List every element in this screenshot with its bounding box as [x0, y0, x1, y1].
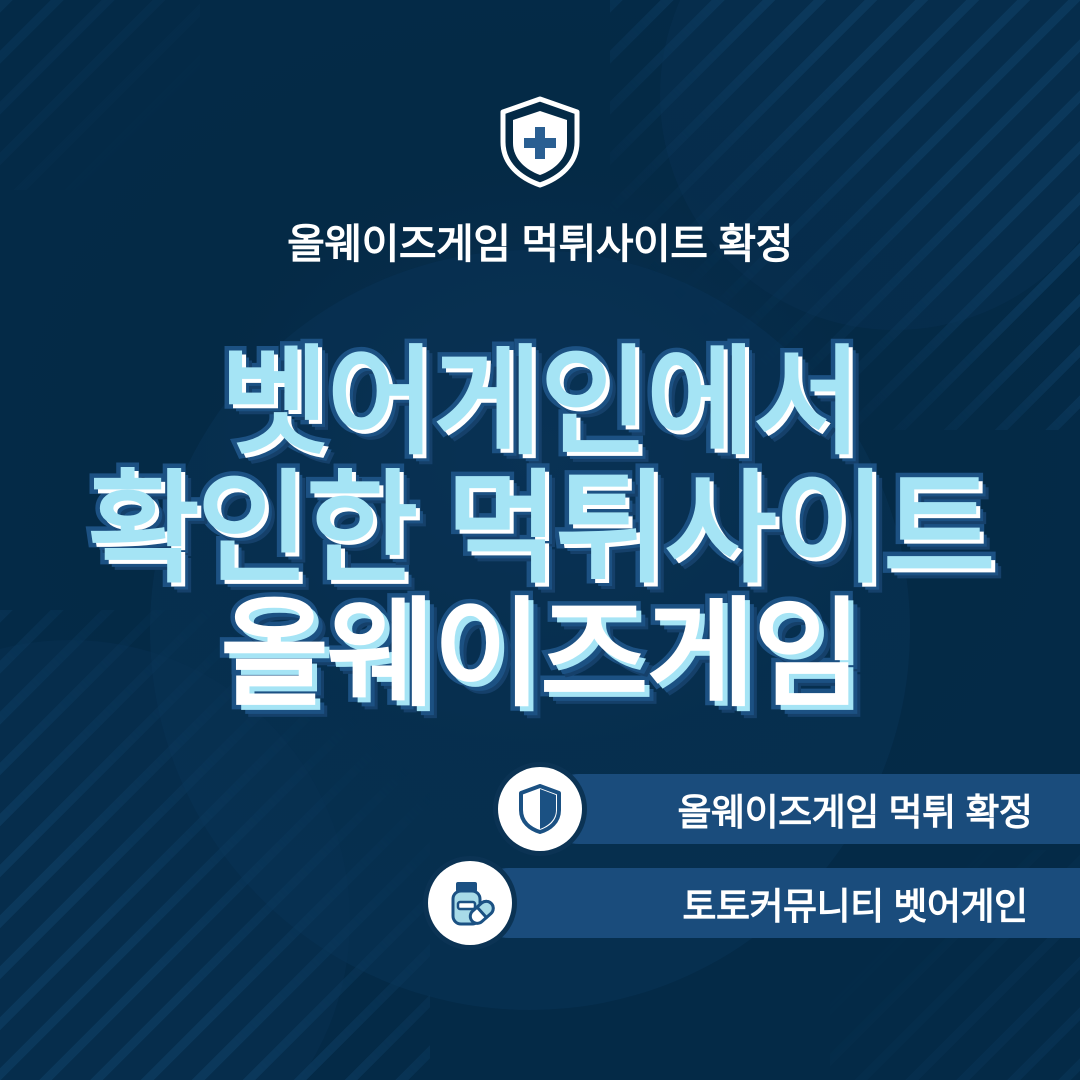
eyebrow-text: 올웨이즈게임 먹튀사이트 확정 [287, 210, 793, 270]
headline-line-3: 올웨이즈게임 [220, 596, 859, 714]
badge-bar: 올웨이즈게임 먹튀 확정 [544, 774, 1080, 844]
pill-bottle-icon [445, 878, 495, 928]
poster-canvas: 올웨이즈게임 먹튀사이트 확정 벳어게인에서 확인한 먹튀사이트 올웨이즈게임 … [0, 0, 1080, 1080]
badge-label: 토토커뮤니티 벳어게인 [634, 876, 1027, 930]
badge-bar: 토토커뮤니티 벳어게인 [474, 868, 1080, 938]
badge-item[interactable]: 토토커뮤니티 벳어게인 [428, 868, 582, 938]
poster-content: 올웨이즈게임 먹튀사이트 확정 벳어게인에서 확인한 먹튀사이트 올웨이즈게임 … [0, 0, 1080, 1080]
badge-icon-circle [498, 767, 582, 851]
headline-line-1: 벳어게인에서 [220, 344, 859, 462]
headline-line-2: 확인한 먹튀사이트 [88, 468, 993, 590]
badge-list: 올웨이즈게임 먹튀 확정 토토커뮤니티 벳어게인 [498, 774, 582, 938]
badge-label: 올웨이즈게임 먹튀 확정 [630, 782, 1033, 836]
badge-icon-circle [428, 861, 512, 945]
headline-block: 벳어게인에서 확인한 먹튀사이트 올웨이즈게임 [88, 344, 993, 714]
shield-plus-icon [497, 96, 583, 188]
shield-half-icon [518, 784, 562, 834]
badge-item[interactable]: 올웨이즈게임 먹튀 확정 [498, 774, 582, 844]
